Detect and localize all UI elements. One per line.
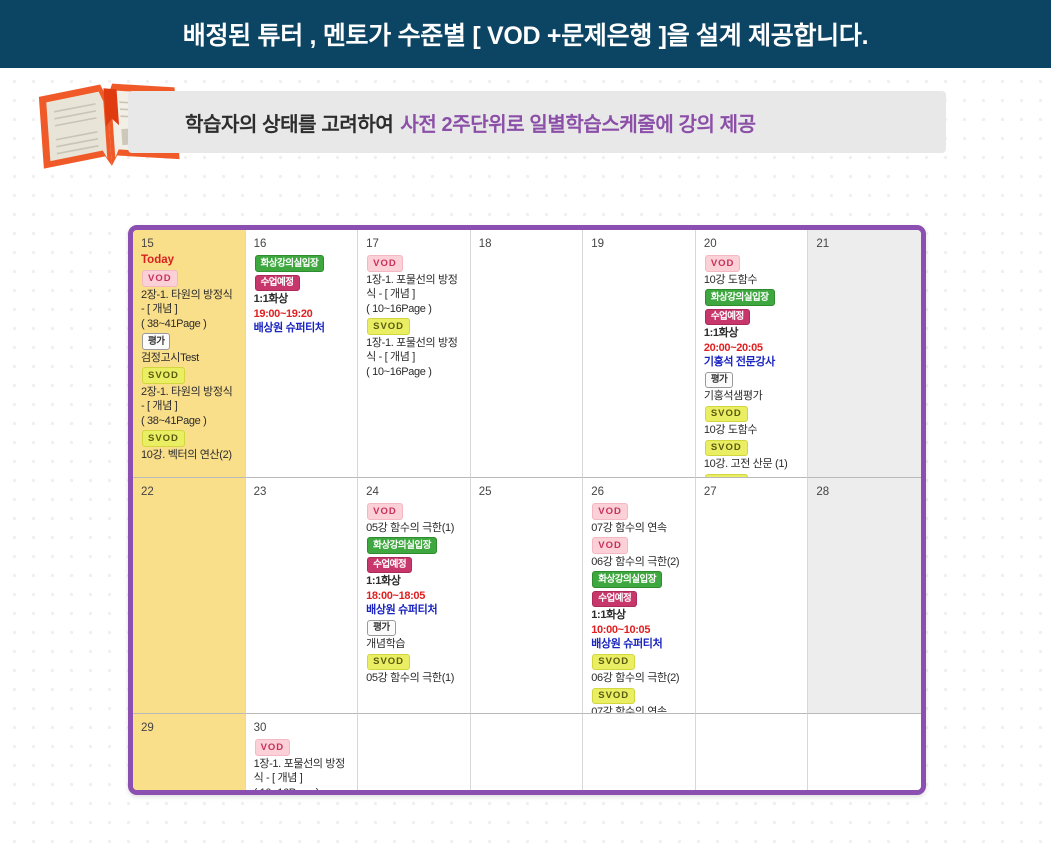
event-text-line: ( 38~41Page ) <box>141 414 239 429</box>
badge-row: VOD <box>254 737 352 757</box>
badge-room[interactable]: 화상강의실입장 <box>367 537 437 554</box>
calendar-week-row: 15TodayVOD2장-1. 타원의 방정식- [ 개념 ]( 38~41Pa… <box>133 230 921 478</box>
event-text-line: 2장-1. 타원의 방정식 <box>141 385 239 400</box>
badge-eval[interactable]: 평가 <box>367 620 395 637</box>
badge-row: 평가 <box>366 618 464 638</box>
day-number: 24 <box>366 485 464 500</box>
event-text-line: 1장-1. 포물선의 방정 <box>366 336 464 351</box>
day-number: 19 <box>591 237 689 252</box>
badge-row: VOD <box>591 535 689 555</box>
badge-vod[interactable]: VOD <box>367 255 403 272</box>
day-number: 18 <box>479 237 577 252</box>
badge-vod[interactable]: VOD <box>705 255 741 272</box>
calendar-day-cell-empty[interactable] <box>583 714 696 795</box>
event-text-line: 05강 함수의 극한(1) <box>366 521 464 536</box>
badge-eval[interactable]: 평가 <box>142 333 170 350</box>
calendar-day-cell-15[interactable]: 15TodayVOD2장-1. 타원의 방정식- [ 개념 ]( 38~41Pa… <box>133 230 246 478</box>
badge-room[interactable]: 화상강의실입장 <box>592 571 662 588</box>
event-text-line: 배상원 슈퍼티처 <box>254 321 352 336</box>
event-text-line: 검정고시Test <box>141 351 239 366</box>
today-label: Today <box>141 253 239 268</box>
event-text-line: 기홍석샘평가 <box>704 389 802 404</box>
day-number: 20 <box>704 237 802 252</box>
event-text-line: ( 10~16Page ) <box>366 365 464 380</box>
calendar-day-cell-empty[interactable] <box>808 714 921 795</box>
badge-vod[interactable]: VOD <box>367 503 403 520</box>
badge-row: 평가 <box>704 370 802 390</box>
event-text-line: 식 - [ 개념 ] <box>366 287 464 302</box>
badge-plan[interactable]: 수업예정 <box>705 309 750 326</box>
badge-row: SVOD <box>591 686 689 706</box>
calendar-day-cell-19[interactable]: 19 <box>583 230 696 478</box>
badge-row: SVOD <box>141 365 239 385</box>
subtitle-region: 학습자의 상태를 고려하여 사전 2주단위로 일별학습스케줄에 강의 제공 <box>0 68 1051 188</box>
event-text-line: 06강 함수의 극한(2) <box>591 555 689 570</box>
event-text-line: 1:1화상 <box>366 574 464 589</box>
badge-row: 화상강의실입장 <box>591 569 689 589</box>
calendar-day-cell-20[interactable]: 20VOD10강 도함수화상강의실입장수업예정1:1화상20:00~20:05기… <box>696 230 809 478</box>
calendar-day-cell-empty[interactable] <box>471 714 584 795</box>
event-text-line: ( 10~16Page ) <box>254 786 352 796</box>
badge-row: 수업예정 <box>254 273 352 293</box>
event-text-line: 1:1화상 <box>704 326 802 341</box>
event-text-line: 배상원 슈퍼티처 <box>366 603 464 618</box>
calendar-day-cell-empty[interactable] <box>358 714 471 795</box>
calendar-day-cell-17[interactable]: 17VOD1장-1. 포물선의 방정식 - [ 개념 ]( 10~16Page … <box>358 230 471 478</box>
badge-row: SVOD <box>366 652 464 672</box>
event-text-line: 05강 함수의 극한(1) <box>366 671 464 686</box>
badge-svod[interactable]: SVOD <box>592 654 635 671</box>
calendar-day-cell-29[interactable]: 29 <box>133 714 246 795</box>
badge-row: SVOD <box>591 652 689 672</box>
day-number: 29 <box>141 721 239 736</box>
day-number: 15 <box>141 237 239 252</box>
page-title: 배정된 튜터 , 멘토가 수준별 [ VOD +문제은행 ]을 설계 제공합니다… <box>183 16 868 52</box>
day-number: 25 <box>479 485 577 500</box>
badge-row: VOD <box>591 501 689 521</box>
event-text-line: ( 38~41Page ) <box>141 317 239 332</box>
badge-plan[interactable]: 수업예정 <box>592 591 637 608</box>
event-text-line: 10:00~10:05 <box>591 623 689 638</box>
badge-svod[interactable]: SVOD <box>367 654 410 671</box>
day-number: 23 <box>254 485 352 500</box>
badge-row: 수업예정 <box>704 307 802 327</box>
day-number: 27 <box>704 485 802 500</box>
badge-room[interactable]: 화상강의실입장 <box>255 255 325 272</box>
badge-vod[interactable]: VOD <box>592 503 628 520</box>
schedule-calendar[interactable]: 15TodayVOD2장-1. 타원의 방정식- [ 개념 ]( 38~41Pa… <box>128 225 926 795</box>
badge-row: 수업예정 <box>591 589 689 609</box>
subtitle-accent-text: 사전 2주단위로 일별학습스케줄에 강의 제공 <box>400 108 755 137</box>
badge-row: SVOD <box>704 438 802 458</box>
badge-svod[interactable]: SVOD <box>592 688 635 705</box>
event-text-line: 1:1화상 <box>591 608 689 623</box>
day-number: 26 <box>591 485 689 500</box>
calendar-day-cell-24[interactable]: 24VOD05강 함수의 극한(1)화상강의실입장수업예정1:1화상18:00~… <box>358 478 471 714</box>
badge-svod[interactable]: SVOD <box>142 367 185 384</box>
badge-row: SVOD <box>141 428 239 448</box>
event-text-line: 기홍석 전문강사 <box>704 355 802 370</box>
subtitle-banner: 학습자의 상태를 고려하여 사전 2주단위로 일별학습스케줄에 강의 제공 <box>128 91 946 153</box>
calendar-day-cell-21[interactable]: 21 <box>808 230 921 478</box>
event-text-line: 10강 도함수 <box>704 273 802 288</box>
calendar-day-cell-30[interactable]: 30VOD1장-1. 포물선의 방정식 - [ 개념 ]( 10~16Page … <box>246 714 359 795</box>
badge-row: 수업예정 <box>366 555 464 575</box>
calendar-day-cell-23[interactable]: 23 <box>246 478 359 714</box>
event-text-line: 2장-1. 타원의 방정식 <box>141 288 239 303</box>
calendar-day-cell-22[interactable]: 22 <box>133 478 246 714</box>
day-number: 30 <box>254 721 352 736</box>
subtitle-plain-text: 학습자의 상태를 고려하여 <box>185 108 393 137</box>
badge-row: 화상강의실입장 <box>704 287 802 307</box>
event-text-line: 10강. 벡터의 연산(2) <box>141 448 239 463</box>
badge-plan[interactable]: 수업예정 <box>367 557 412 574</box>
calendar-day-cell-empty[interactable] <box>696 714 809 795</box>
badge-vod[interactable]: VOD <box>592 537 628 554</box>
badge-row: VOD <box>366 501 464 521</box>
day-number: 16 <box>254 237 352 252</box>
badge-row: 화상강의실입장 <box>254 253 352 273</box>
badge-row: 화상강의실입장 <box>366 535 464 555</box>
day-number: 28 <box>816 485 915 500</box>
badge-row: SVOD <box>704 404 802 424</box>
event-text-line: 식 - [ 개념 ] <box>254 771 352 786</box>
event-text-line: 1장-1. 포물선의 방정 <box>254 757 352 772</box>
day-number: 17 <box>366 237 464 252</box>
event-text-line: 배상원 슈퍼티처 <box>591 637 689 652</box>
badge-row: VOD <box>704 253 802 273</box>
badge-plan[interactable]: 수업예정 <box>255 275 300 292</box>
event-text-line: 1:1화상 <box>254 292 352 307</box>
event-text-line: 18:00~18:05 <box>366 589 464 604</box>
calendar-day-cell-26[interactable]: 26VOD07강 함수의 연속VOD06강 함수의 극한(2)화상강의실입장수업… <box>583 478 696 714</box>
badge-svod[interactable]: SVOD <box>705 440 748 457</box>
calendar-week-row: 2930VOD1장-1. 포물선의 방정식 - [ 개념 ]( 10~16Pag… <box>133 714 921 795</box>
badge-svod[interactable]: SVOD <box>367 318 410 335</box>
event-text-line: 10강 도함수 <box>704 423 802 438</box>
calendar-day-cell-18[interactable]: 18 <box>471 230 584 478</box>
calendar-week-row: 222324VOD05강 함수의 극한(1)화상강의실입장수업예정1:1화상18… <box>133 478 921 714</box>
event-text-line: 07강 함수의 연속 <box>591 521 689 536</box>
badge-row: 평가 <box>141 331 239 351</box>
event-text-line: 07강 함수의 연속 <box>591 705 689 714</box>
event-text-line: 20:00~20:05 <box>704 341 802 356</box>
calendar-day-cell-27[interactable]: 27 <box>696 478 809 714</box>
event-text-line: 10강. 고전 산문 (1) <box>704 457 802 472</box>
badge-svod[interactable]: SVOD <box>705 406 748 423</box>
badge-row: SVOD <box>366 316 464 336</box>
day-number: 22 <box>141 485 239 500</box>
event-text-line: ( 10~16Page ) <box>366 302 464 317</box>
page-header: 배정된 튜터 , 멘토가 수준별 [ VOD +문제은행 ]을 설계 제공합니다… <box>0 0 1051 68</box>
badge-eval[interactable]: 평가 <box>705 372 733 389</box>
badge-svod[interactable]: SVOD <box>142 430 185 447</box>
calendar-day-cell-16[interactable]: 16화상강의실입장수업예정1:1화상19:00~19:20배상원 슈퍼티처 <box>246 230 359 478</box>
event-text-line: 개념학습 <box>366 637 464 652</box>
event-text-line: 06강 함수의 극한(2) <box>591 671 689 686</box>
event-text-line: - [ 개념 ] <box>141 302 239 317</box>
calendar-day-cell-25[interactable]: 25 <box>471 478 584 714</box>
event-text-line: 1장-1. 포물선의 방정 <box>366 273 464 288</box>
badge-row: VOD <box>141 268 239 288</box>
badge-row: VOD <box>366 253 464 273</box>
day-number: 21 <box>816 237 915 252</box>
badge-vod[interactable]: VOD <box>255 739 291 756</box>
event-text-line: - [ 개념 ] <box>141 399 239 414</box>
badge-vod[interactable]: VOD <box>142 270 178 287</box>
calendar-day-cell-28[interactable]: 28 <box>808 478 921 714</box>
event-text-line: 식 - [ 개념 ] <box>366 350 464 365</box>
event-text-line: 19:00~19:20 <box>254 307 352 322</box>
badge-room[interactable]: 화상강의실입장 <box>705 289 775 306</box>
